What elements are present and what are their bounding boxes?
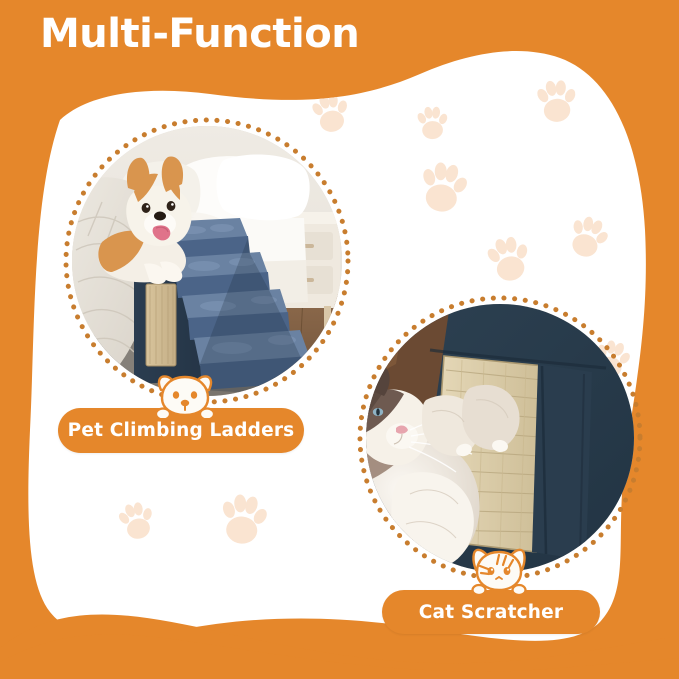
feature-badge-cat-scratcher[interactable]: Cat Scratcher bbox=[382, 590, 600, 634]
product-feature-card: Pet Climbing Ladders bbox=[0, 0, 679, 679]
photo-dog-on-stairs bbox=[72, 126, 342, 396]
feature-label-cat-scratcher: Cat Scratcher bbox=[419, 602, 564, 623]
photo-cat-scratching bbox=[366, 304, 634, 572]
dog-face-icon bbox=[148, 374, 222, 418]
feature-label-pet-climbing-ladders: Pet Climbing Ladders bbox=[68, 420, 295, 441]
cat-face-icon bbox=[466, 546, 532, 594]
page-title: Multi-Function bbox=[40, 8, 359, 60]
feature-photo-pet-climbing-ladders bbox=[58, 112, 356, 410]
feature-photo-cat-scratcher bbox=[352, 290, 648, 586]
